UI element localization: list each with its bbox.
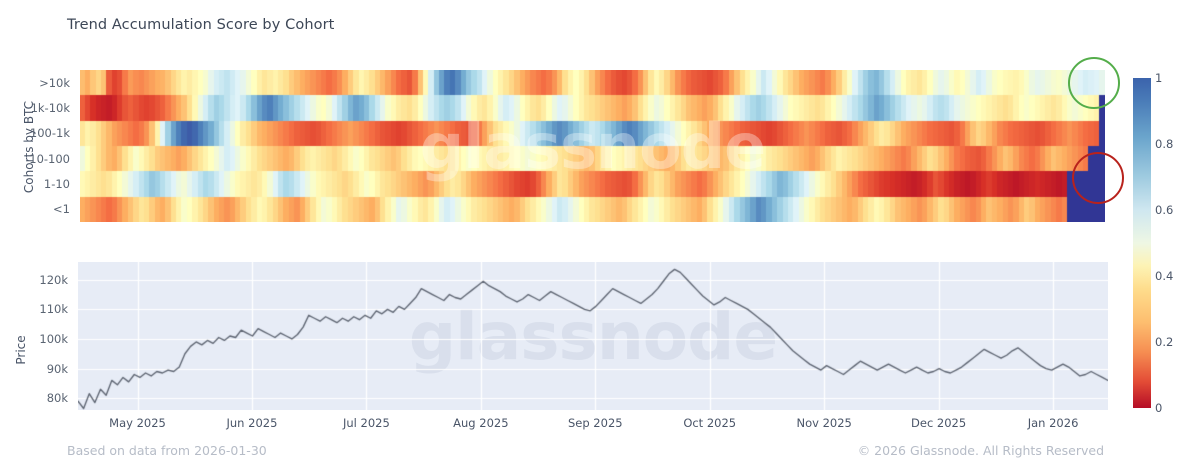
chart-page: Trend Accumulation Score by Cohort Cohor… xyxy=(0,0,1184,467)
colorbar-tick-0: 0 xyxy=(1155,401,1162,415)
price-tick-120k: 120k xyxy=(39,273,68,287)
cohort-tick-10-100: 10-100 xyxy=(29,152,70,166)
cohort-tick-1k-10k: 1k-10k xyxy=(31,101,70,115)
cohort-tick-1-10: 1-10 xyxy=(44,177,70,191)
price-tick-90k: 90k xyxy=(47,362,68,376)
x-tick-Jul-2025: Jul 2025 xyxy=(343,416,390,430)
price-tick-labels: 80k90k100k110k120k xyxy=(0,262,72,410)
data-source-note: Based on data from 2026-01-30 xyxy=(67,443,267,458)
price-tick-100k: 100k xyxy=(39,332,68,346)
copyright-note: © 2026 Glassnode. All Rights Reserved xyxy=(858,443,1104,458)
x-tick-Nov-2025: Nov 2025 xyxy=(796,416,851,430)
x-tick-Dec-2025: Dec 2025 xyxy=(911,416,966,430)
colorbar-tick-labels: 00.20.40.60.81 xyxy=(1155,78,1184,408)
x-tick-Jun-2025: Jun 2025 xyxy=(227,416,278,430)
x-tick-Oct-2025: Oct 2025 xyxy=(683,416,736,430)
x-tick-Aug-2025: Aug 2025 xyxy=(453,416,508,430)
annotation-circle-red xyxy=(1072,152,1124,204)
colorbar-tick-0.4: 0.4 xyxy=(1155,269,1173,283)
colorbar-tick-0.8: 0.8 xyxy=(1155,137,1173,151)
x-tick-May-2025: May 2025 xyxy=(109,416,166,430)
page-title: Trend Accumulation Score by Cohort xyxy=(67,17,334,33)
colorbar-tick-1: 1 xyxy=(1155,71,1162,85)
x-axis-tick-labels: May 2025Jun 2025Jul 2025Aug 2025Sep 2025… xyxy=(0,416,1184,434)
colorbar-tick-0.2: 0.2 xyxy=(1155,335,1173,349)
colorbar: 00.20.40.60.81 xyxy=(1133,78,1151,408)
colorbar-tick-0.6: 0.6 xyxy=(1155,203,1173,217)
cohort-tick-<1: <1 xyxy=(53,202,70,216)
cohort-tick->10k: >10k xyxy=(39,76,70,90)
cohort-tick-labels: >10k1k-10k100-1k10-1001-10<1 xyxy=(0,70,74,222)
colorbar-gradient xyxy=(1133,78,1151,408)
x-tick-Jan-2026: Jan 2026 xyxy=(1028,416,1079,430)
price-tick-80k: 80k xyxy=(47,391,68,405)
x-tick-Sep-2025: Sep 2025 xyxy=(568,416,623,430)
annotation-circle-green xyxy=(1068,57,1120,109)
heatmap-plot-area[interactable] xyxy=(80,70,1105,222)
cohort-tick-100-1k: 100-1k xyxy=(30,126,70,140)
heatmap-canvas[interactable] xyxy=(80,70,1105,222)
price-tick-110k: 110k xyxy=(39,302,68,316)
price-line-canvas[interactable] xyxy=(78,262,1108,410)
